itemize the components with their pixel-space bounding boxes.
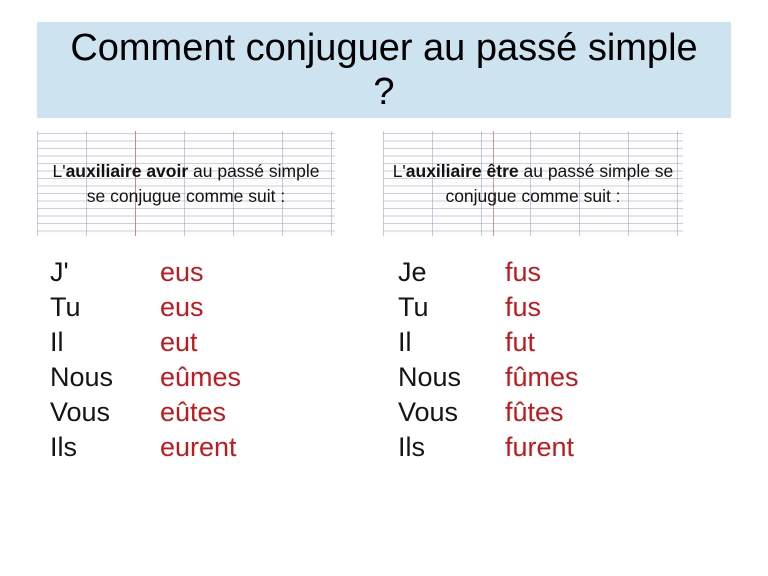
pronoun-cell: Il (398, 327, 505, 358)
verb-cell: eurent (160, 432, 237, 463)
title-banner: Comment conjuguer au passé simple ? (37, 22, 731, 118)
table-row: Nous eûmes (50, 362, 241, 397)
pronoun-cell: Nous (50, 362, 160, 393)
page-title: Comment conjuguer au passé simple ? (37, 26, 731, 114)
heading-etre-emphasis: auxiliaire être (406, 161, 519, 181)
verb-cell: eûtes (160, 397, 226, 428)
verb-cell: eus (160, 257, 204, 288)
conjugation-table-avoir: J' eus Tu eus Il eut Nous eûmes Vous eût… (50, 257, 241, 467)
table-row: Tu fus (398, 292, 579, 327)
verb-cell: fut (505, 327, 535, 358)
table-row: J' eus (50, 257, 241, 292)
table-row: Vous eûtes (50, 397, 241, 432)
pronoun-cell: Tu (398, 292, 505, 323)
table-row: Nous fûmes (398, 362, 579, 397)
table-row: Il eut (50, 327, 241, 362)
pronoun-cell: Tu (50, 292, 160, 323)
table-row: Ils eurent (50, 432, 241, 467)
notepaper-avoir: L'auxiliaire avoir au passé simple se co… (37, 131, 335, 236)
heading-avoir-emphasis: auxiliaire avoir (66, 161, 189, 181)
verb-cell: eus (160, 292, 204, 323)
table-row: Je fus (398, 257, 579, 292)
pronoun-cell: Ils (398, 432, 505, 463)
pronoun-cell: Ils (50, 432, 160, 463)
verb-cell: fus (505, 292, 541, 323)
heading-avoir: L'auxiliaire avoir au passé simple se co… (37, 159, 335, 209)
pronoun-cell: Nous (398, 362, 505, 393)
conjugation-table-etre: Je fus Tu fus Il fut Nous fûmes Vous fût… (398, 257, 579, 467)
verb-cell: eut (160, 327, 198, 358)
pronoun-cell: Je (398, 257, 505, 288)
table-row: Il fut (398, 327, 579, 362)
table-row: Tu eus (50, 292, 241, 327)
verb-cell: fus (505, 257, 541, 288)
verb-cell: furent (505, 432, 574, 463)
table-row: Vous fûtes (398, 397, 579, 432)
heading-etre-lead: L' (393, 161, 406, 181)
verb-cell: fûtes (505, 397, 564, 428)
notepaper-etre: L'auxiliaire être au passé simple se con… (383, 131, 683, 236)
heading-avoir-lead: L' (53, 161, 66, 181)
pronoun-cell: J' (50, 257, 160, 288)
pronoun-cell: Vous (50, 397, 160, 428)
verb-cell: fûmes (505, 362, 579, 393)
verb-cell: eûmes (160, 362, 241, 393)
pronoun-cell: Il (50, 327, 160, 358)
heading-etre: L'auxiliaire être au passé simple se con… (383, 159, 683, 209)
table-row: Ils furent (398, 432, 579, 467)
pronoun-cell: Vous (398, 397, 505, 428)
